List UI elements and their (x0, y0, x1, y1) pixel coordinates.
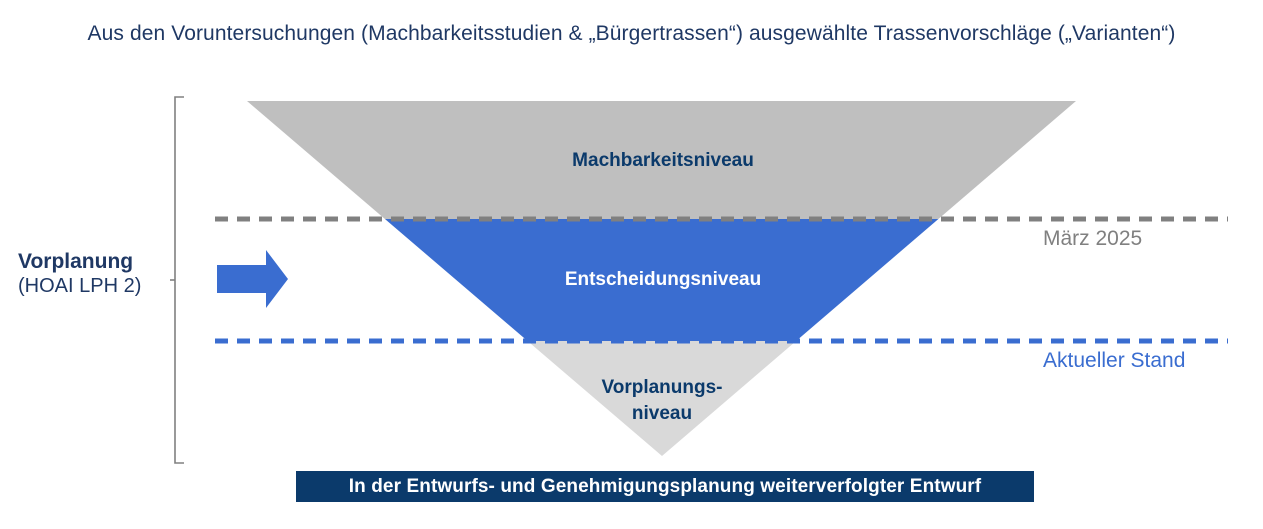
label-entscheidungsniveau: Entscheidungsniveau (463, 269, 863, 291)
marker-label-aktueller-stand: Aktueller Stand (1043, 349, 1185, 373)
label-vorplanungsniveau-line2: niveau (632, 403, 692, 424)
phase-label: Vorplanung (HOAI LPH 2) (18, 250, 166, 298)
diagram-canvas: Aus den Voruntersuchungen (Machbarkeitss… (0, 0, 1263, 529)
marker-label-maerz-2025: März 2025 (1043, 227, 1142, 251)
label-machbarkeitsniveau: Machbarkeitsniveau (463, 150, 863, 172)
phase-detail: (HOAI LPH 2) (18, 275, 166, 299)
label-vorplanungsniveau-line1: Vorplanungs- (601, 377, 722, 398)
label-vorplanungsniveau: Vorplanungs- niveau (532, 375, 792, 426)
progress-arrow-icon (217, 250, 288, 308)
phase-bracket-icon (170, 96, 192, 464)
bottom-banner: In der Entwurfs- und Genehmigungsplanung… (296, 471, 1034, 502)
page-title: Aus den Voruntersuchungen (Machbarkeitss… (0, 22, 1263, 46)
phase-name: Vorplanung (18, 250, 166, 275)
